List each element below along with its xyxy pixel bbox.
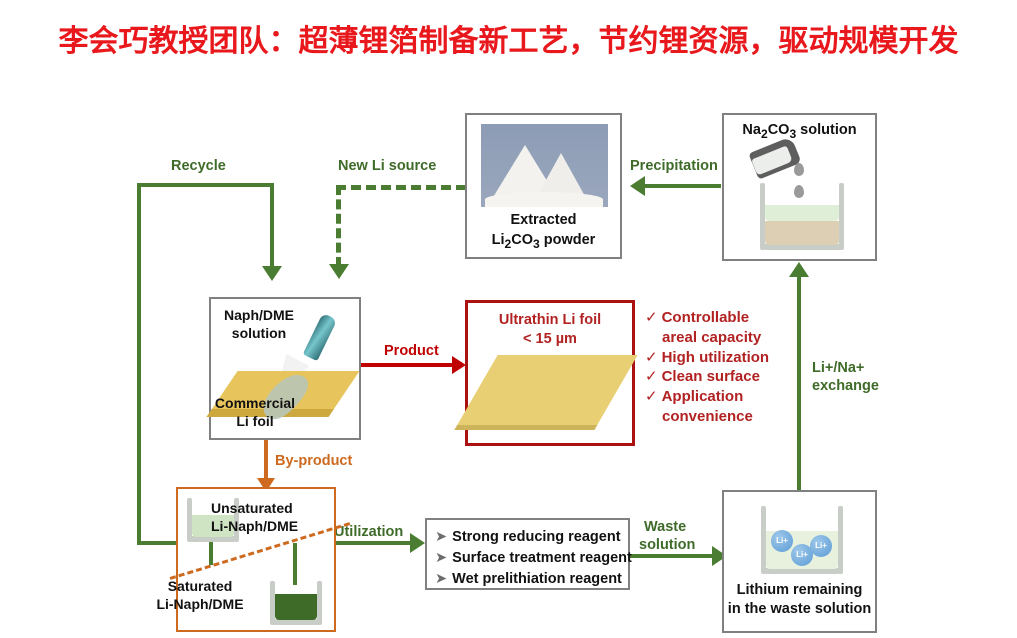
reagents-list: ➤Strong reducing reagent ➤Surface treatm… bbox=[435, 527, 632, 590]
saturated-label-line2: Li-Naph/DME bbox=[122, 596, 278, 613]
advantage-item: ✓Clean surface bbox=[645, 367, 769, 387]
diagram-canvas: 李会巧教授团队：超薄锂箔制备新工艺，节约锂资源，驱动规模开发 Recycle N… bbox=[0, 0, 1017, 638]
na2co3-caption: Na2CO3 solution bbox=[724, 122, 875, 141]
bullet-arrow-icon: ➤ bbox=[435, 550, 447, 566]
label-waste-line2: solution bbox=[639, 537, 695, 554]
ultrathin-foil-icon bbox=[454, 355, 637, 430]
unsaturated-label-line2: Li-Naph/DME bbox=[211, 518, 298, 535]
beaker-sediment bbox=[765, 221, 839, 245]
check-icon: ✓ bbox=[645, 349, 658, 366]
na2co3-beaker-icon bbox=[760, 183, 844, 250]
recycle-line-left bbox=[137, 183, 141, 545]
advantages-list: ✓Controllable areal capacity ✓High utili… bbox=[645, 308, 769, 427]
reagent-text: Surface treatment reagent bbox=[452, 550, 632, 566]
unsaturated-stem bbox=[209, 542, 213, 565]
node-waste-solution[interactable]: Li+ Li+ Li+ Lithium remaining in the was… bbox=[722, 490, 877, 633]
saturated-liquid bbox=[275, 594, 317, 620]
waste-solution-line bbox=[629, 554, 715, 558]
advantage-text: Application bbox=[662, 388, 744, 405]
product-line bbox=[360, 363, 454, 367]
extracted-powder-caption-line2: Li2CO3 powder bbox=[467, 232, 620, 251]
li-ion-icon: Li+ bbox=[771, 530, 793, 552]
new-li-source-dashed-h bbox=[336, 185, 466, 190]
extracted-powder-caption-line1: Extracted bbox=[467, 212, 620, 229]
label-exchange-line2: exchange bbox=[812, 378, 879, 395]
recycle-line-top bbox=[137, 183, 274, 187]
precipitation-line bbox=[645, 184, 721, 188]
label-byproduct: By-product bbox=[275, 453, 352, 470]
naph-dme-caption-line1: Naph/DME bbox=[185, 307, 333, 324]
label-new-li-source: New Li source bbox=[338, 158, 436, 175]
waste-beaker-icon: Li+ Li+ Li+ bbox=[761, 506, 843, 574]
recycle-line-down bbox=[270, 183, 274, 269]
advantage-item: ✓High utilization bbox=[645, 348, 769, 368]
reagent-text: Strong reducing reagent bbox=[452, 529, 620, 545]
check-icon: ✓ bbox=[645, 388, 658, 405]
li-ion-icon: Li+ bbox=[810, 535, 832, 557]
node-naph-dme-solution[interactable]: Naph/DME solution Commercial Li foil bbox=[209, 297, 361, 440]
byproduct-line bbox=[264, 440, 268, 482]
check-icon: ✓ bbox=[645, 309, 658, 326]
page-title: 李会巧教授团队：超薄锂箔制备新工艺，节约锂资源，驱动规模开发 bbox=[0, 22, 1017, 62]
advantage-item: ✓Controllable bbox=[645, 308, 769, 328]
ultrathin-caption-line2: < 15 µm bbox=[468, 331, 632, 348]
waste-caption-line1: Lithium remaining bbox=[724, 582, 875, 599]
exchange-arrowhead bbox=[789, 262, 809, 277]
node-reagents[interactable]: ➤Strong reducing reagent ➤Surface treatm… bbox=[425, 518, 630, 590]
unsaturated-label-line1: Unsaturated bbox=[211, 500, 293, 517]
new-li-source-arrowhead bbox=[329, 264, 349, 279]
node-ultrathin-li-foil[interactable]: Ultrathin Li foil < 15 µm bbox=[465, 300, 635, 446]
new-li-source-dashed-v bbox=[336, 185, 341, 267]
saturated-stem bbox=[293, 543, 297, 585]
advantage-item: convenience bbox=[645, 407, 769, 427]
node-saturation[interactable]: Unsaturated Li-Naph/DME Saturated Li-Nap… bbox=[176, 487, 336, 632]
advantage-text: Controllable bbox=[662, 309, 750, 326]
advantage-text: convenience bbox=[662, 408, 753, 425]
node-na2co3-solution[interactable]: Na2CO3 solution bbox=[722, 113, 877, 261]
li-ion-label: Li+ bbox=[815, 541, 827, 550]
label-product: Product bbox=[384, 343, 439, 360]
beaker-liquid bbox=[765, 205, 839, 221]
bullet-arrow-icon: ➤ bbox=[435, 571, 447, 587]
label-exchange-line1: Li+/Na+ bbox=[812, 360, 864, 377]
utilization-arrowhead bbox=[410, 533, 425, 553]
precipitation-arrowhead bbox=[630, 176, 645, 196]
bullet-arrow-icon: ➤ bbox=[435, 529, 447, 545]
reagent-item: ➤Surface treatment reagent bbox=[435, 548, 632, 569]
node-extracted-powder[interactable]: Extracted Li2CO3 powder bbox=[465, 113, 622, 259]
check-icon: ✓ bbox=[645, 368, 658, 385]
advantage-text: High utilization bbox=[662, 349, 769, 366]
droplet-icon bbox=[794, 163, 804, 176]
reagent-item: ➤Wet prelithiation reagent bbox=[435, 569, 632, 590]
advantage-text: areal capacity bbox=[662, 329, 761, 346]
ultrathin-caption-line1: Ultrathin Li foil bbox=[468, 312, 632, 329]
exchange-line bbox=[797, 276, 801, 498]
powder-image bbox=[481, 124, 608, 207]
naph-dme-caption-line4: Li foil bbox=[181, 413, 329, 430]
li-ion-label: Li+ bbox=[776, 536, 788, 545]
reagent-text: Wet prelithiation reagent bbox=[452, 571, 622, 587]
product-arrowhead bbox=[452, 356, 466, 374]
waste-caption-line2: in the waste solution bbox=[724, 601, 875, 618]
li-ion-label: Li+ bbox=[796, 550, 808, 559]
advantage-text: Clean surface bbox=[662, 368, 760, 385]
saturated-label-line1: Saturated bbox=[122, 578, 278, 595]
label-waste-line1: Waste bbox=[644, 519, 686, 536]
advantage-item: ✓Application bbox=[645, 387, 769, 407]
recycle-arrowhead bbox=[262, 266, 282, 281]
label-recycle: Recycle bbox=[171, 158, 226, 175]
advantage-item: areal capacity bbox=[645, 328, 769, 348]
reagent-item: ➤Strong reducing reagent bbox=[435, 527, 632, 548]
label-precipitation: Precipitation bbox=[630, 158, 718, 175]
naph-dme-caption-line3: Commercial bbox=[181, 395, 329, 412]
